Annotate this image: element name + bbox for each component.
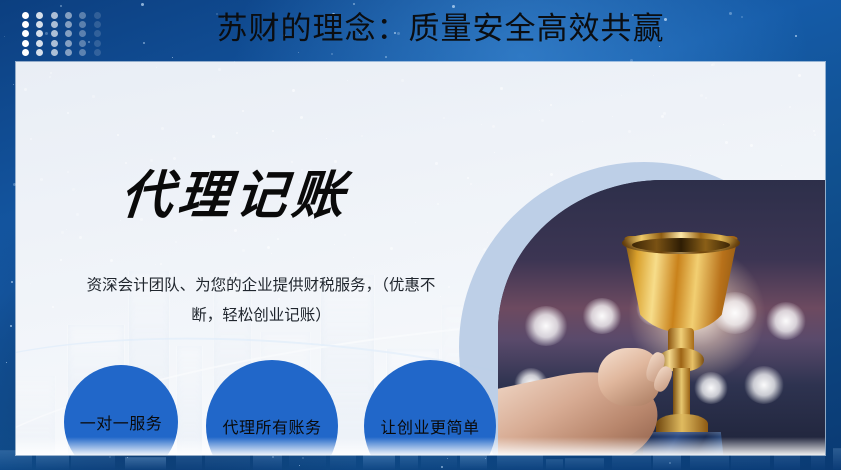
page-title: 苏财的理念：质量安全高效共赢: [0, 6, 841, 52]
slide-root: 苏财的理念：质量安全高效共赢: [0, 0, 841, 470]
trophy-photo: [498, 180, 825, 455]
headline: 代理记账: [118, 165, 351, 227]
feature-circle-2-label: 代理所有账务: [222, 414, 321, 438]
feature-circle-1-label: 一对一服务: [80, 410, 163, 434]
building: [546, 459, 563, 470]
feature-circle-3-label: 让创业更简单: [380, 414, 479, 438]
body-text: 资深会计团队、为您的企业提供财税服务，（优惠不断，轻松创业记账）: [76, 270, 446, 330]
building: [125, 457, 166, 470]
building: [565, 458, 604, 470]
content-panel: 代理记账 资深会计团队、为您的企业提供财税服务，（优惠不断，轻松创业记账） 一对…: [16, 62, 825, 455]
building: [833, 448, 841, 470]
building: [460, 455, 487, 470]
panel-bottom-fade: [16, 437, 825, 455]
